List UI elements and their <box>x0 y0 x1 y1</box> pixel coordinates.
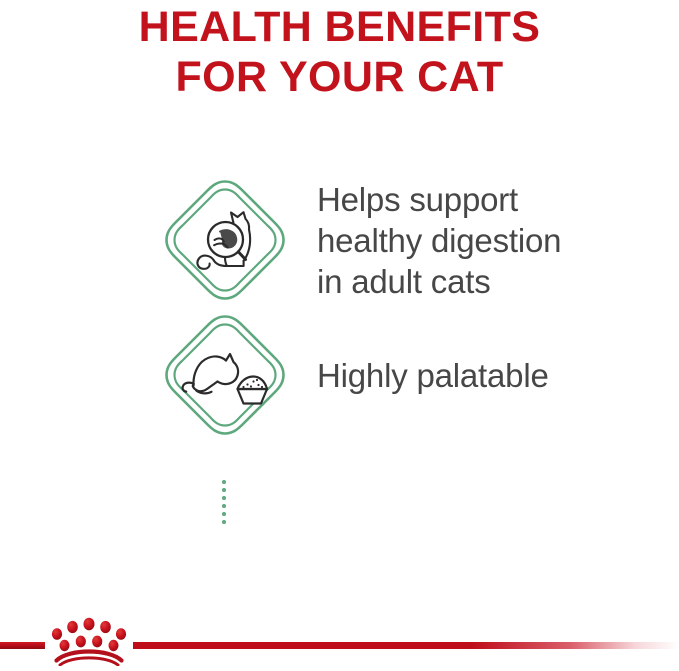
connector-dot <box>222 520 226 524</box>
connector-dot <box>222 496 226 500</box>
connector-dot <box>222 512 226 516</box>
benefit-text-line: Highly palatable <box>317 355 549 396</box>
connector-dot <box>222 488 226 492</box>
cat-eating-bowl-icon <box>163 313 287 437</box>
connector-dot <box>222 480 226 484</box>
benefit-text-line: healthy digestion <box>317 220 561 261</box>
benefit-text-line: Helps support <box>317 179 561 220</box>
royal-canin-crown-logo <box>47 614 131 666</box>
cat-digestion-magnifier-icon <box>163 178 287 302</box>
page-title-line-2: FOR YOUR CAT <box>0 52 679 102</box>
brand-rule-left <box>0 642 45 649</box>
benefit-item-digestion: Helps support healthy digestion in adult… <box>0 165 679 315</box>
dotted-connector <box>222 480 226 524</box>
brand-rule-right <box>133 642 679 649</box>
benefit-item-palatable: Highly palatable <box>0 315 679 435</box>
benefit-text-palatable: Highly palatable <box>317 355 549 396</box>
page-title: HEALTH BENEFITS FOR YOUR CAT <box>0 0 679 102</box>
benefit-text-digestion: Helps support healthy digestion in adult… <box>317 179 561 302</box>
page-title-line-1: HEALTH BENEFITS <box>0 2 679 52</box>
connector-dot <box>222 504 226 508</box>
benefits-list: Helps support healthy digestion in adult… <box>0 165 679 435</box>
benefit-text-line: in adult cats <box>317 261 561 302</box>
footer-brand-strip <box>0 600 679 666</box>
